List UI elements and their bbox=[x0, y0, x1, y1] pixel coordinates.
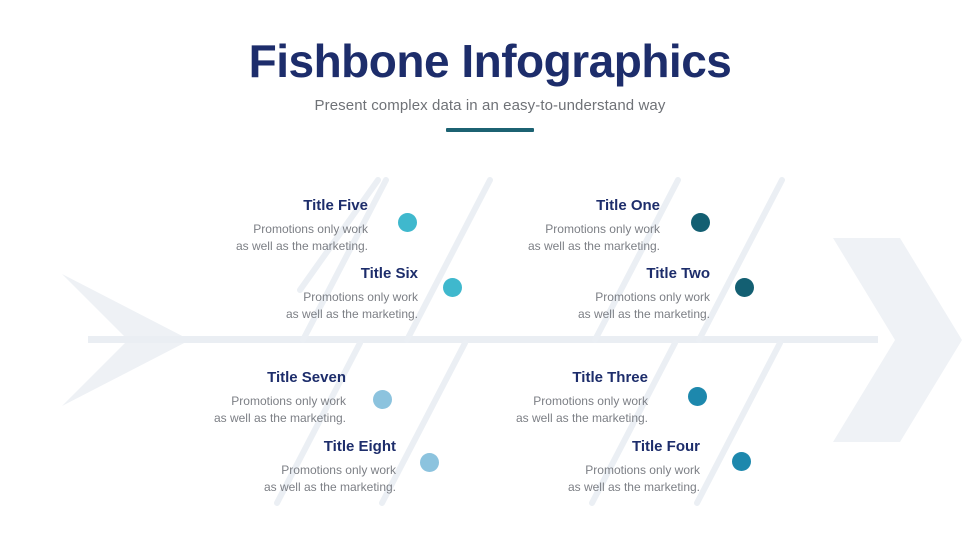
branch-eight[interactable]: Title Eight Promotions only work as well… bbox=[176, 438, 396, 497]
branch-two-title: Title Two bbox=[490, 265, 710, 283]
title-divider bbox=[446, 128, 534, 132]
branch-two[interactable]: Title Two Promotions only work as well a… bbox=[490, 265, 710, 324]
node-dot-one[interactable] bbox=[691, 213, 710, 232]
branch-five[interactable]: Title Five Promotions only work as well … bbox=[148, 197, 368, 256]
node-dot-four[interactable] bbox=[732, 452, 751, 471]
rib-bone-upper-right-b bbox=[699, 180, 782, 340]
node-dot-six[interactable] bbox=[443, 278, 462, 297]
branch-one[interactable]: Title One Promotions only work as well a… bbox=[440, 197, 660, 256]
branch-three-description: Promotions only work as well as the mark… bbox=[428, 393, 648, 428]
branch-seven[interactable]: Title Seven Promotions only work as well… bbox=[126, 369, 346, 428]
branch-four-description: Promotions only work as well as the mark… bbox=[480, 462, 700, 497]
branch-eight-description: Promotions only work as well as the mark… bbox=[176, 462, 396, 497]
node-dot-seven[interactable] bbox=[373, 390, 392, 409]
rib-bone-lower-right-b bbox=[697, 343, 780, 503]
branch-four-title: Title Four bbox=[480, 438, 700, 456]
slide-header: Fishbone Infographics Present complex da… bbox=[0, 36, 980, 132]
fish-spine bbox=[88, 336, 878, 343]
branch-four[interactable]: Title Four Promotions only work as well … bbox=[480, 438, 700, 497]
branch-one-description: Promotions only work as well as the mark… bbox=[440, 221, 660, 256]
branch-two-description: Promotions only work as well as the mark… bbox=[490, 289, 710, 324]
branch-six[interactable]: Title Six Promotions only work as well a… bbox=[198, 265, 418, 324]
branch-one-title: Title One bbox=[440, 197, 660, 215]
branch-three-title: Title Three bbox=[428, 369, 648, 387]
branch-five-title: Title Five bbox=[148, 197, 368, 215]
page-title: Fishbone Infographics bbox=[0, 36, 980, 87]
branch-seven-title: Title Seven bbox=[126, 369, 346, 387]
branch-six-title: Title Six bbox=[198, 265, 418, 283]
branch-seven-description: Promotions only work as well as the mark… bbox=[126, 393, 346, 428]
branch-five-description: Promotions only work as well as the mark… bbox=[148, 221, 368, 256]
node-dot-two[interactable] bbox=[735, 278, 754, 297]
node-dot-three[interactable] bbox=[688, 387, 707, 406]
page-subtitle: Present complex data in an easy-to-under… bbox=[0, 97, 980, 114]
branch-three[interactable]: Title Three Promotions only work as well… bbox=[428, 369, 648, 428]
branch-eight-title: Title Eight bbox=[176, 438, 396, 456]
node-dot-eight[interactable] bbox=[420, 453, 439, 472]
node-dot-five[interactable] bbox=[398, 213, 417, 232]
branch-six-description: Promotions only work as well as the mark… bbox=[198, 289, 418, 324]
divider-wrapper bbox=[0, 128, 980, 132]
fishbone-infographic-slide: Fishbone Infographics Present complex da… bbox=[0, 0, 980, 551]
